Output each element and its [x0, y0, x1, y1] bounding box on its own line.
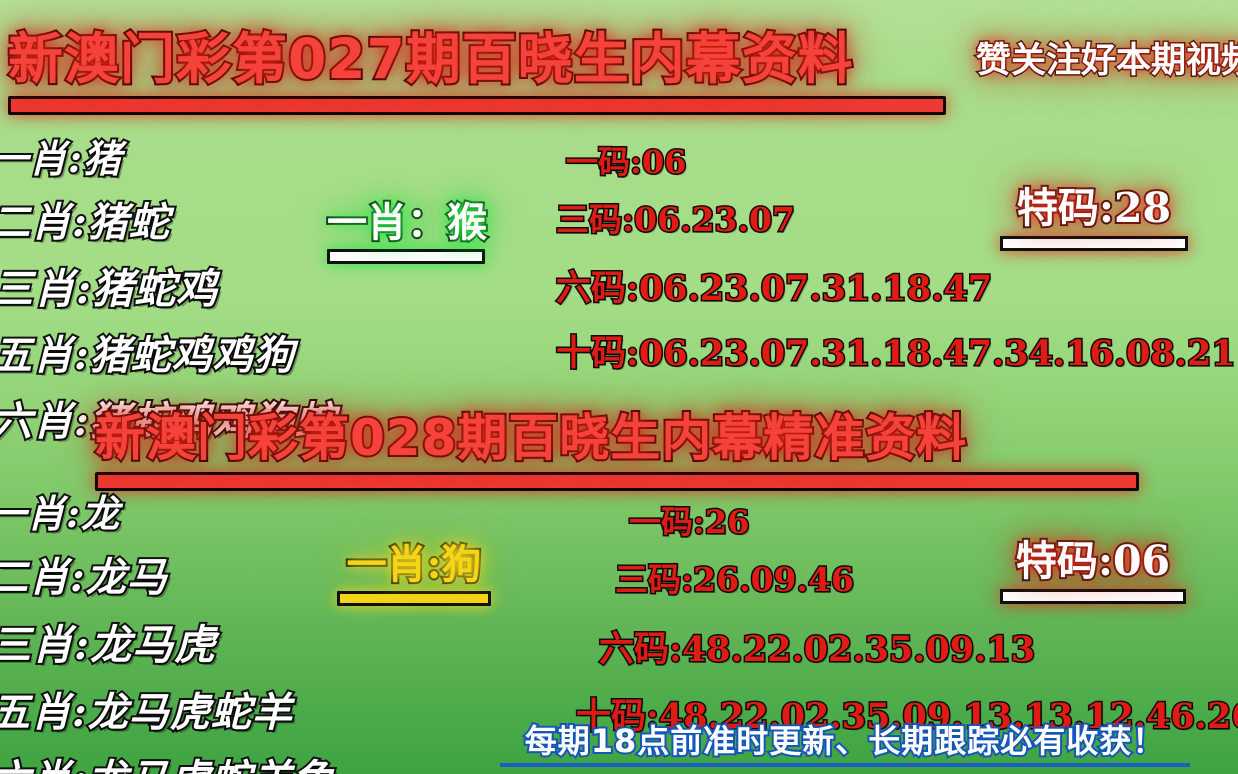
footer-banner: 每期18点前准时更新、长期跟踪必有收获！ — [500, 716, 1190, 767]
section-2-title-text: 新澳门彩第028期百晓生内幕精准资料 — [95, 398, 1139, 470]
section-1-special-code-text: 特码:28 — [1000, 174, 1188, 234]
section-2-title: 新澳门彩第028期百晓生内幕精准资料 — [95, 398, 1139, 491]
section-1-highlight-underline — [327, 249, 485, 264]
section-2-highlight-badge: 一肖:狗 — [337, 532, 491, 606]
footer-underline — [500, 763, 1190, 767]
number-row: 十码:06.23.07.31.18.47.34.16.08.21 — [556, 325, 1236, 376]
section-1-number-list: 一码:06 三码:06.23.07 六码:06.23.07.31.18.47 十… — [556, 137, 1236, 376]
number-row: 六码:06.23.07.31.18.47 — [556, 260, 1236, 311]
zodiac-row: 五肖:猪蛇鸡鸡狗 — [0, 323, 420, 381]
zodiac-row: 一肖:龙 — [0, 483, 418, 538]
section-2-zodiac-list: 一肖:龙 二肖:龙马 三肖:龙马虎 五肖:龙马虎蛇羊 六肖:龙马虎蛇羊兔 — [0, 483, 418, 774]
section-1-highlight-badge: 一肖：猴 — [327, 190, 487, 264]
zodiac-row: 一肖:猪 — [0, 128, 420, 183]
footer-text: 每期18点前准时更新、长期跟踪必有收获！ — [500, 716, 1190, 762]
promo-text: 赞关注好本期视频 — [976, 32, 1238, 83]
section-2-highlight-underline — [337, 591, 491, 606]
section-1-title: 新澳门彩第027期百晓生内幕资料 — [8, 14, 946, 115]
zodiac-row: 六肖:龙马虎蛇羊兔 — [0, 747, 418, 774]
zodiac-row: 五肖:龙马虎蛇羊 — [0, 680, 418, 738]
section-2-special-code: 特码:06 — [1000, 527, 1186, 604]
zodiac-row: 三肖:猪蛇鸡 — [0, 255, 420, 315]
section-2-special-code-text: 特码:06 — [1000, 527, 1186, 587]
section-1-title-text: 新澳门彩第027期百晓生内幕资料 — [8, 14, 946, 94]
zodiac-row: 三肖:龙马虎 — [0, 611, 418, 671]
section-2-highlight-text: 一肖:狗 — [337, 532, 491, 590]
lottery-poster: 新澳门彩第027期百晓生内幕资料 赞关注好本期视频 一肖:猪 二肖:猪蛇 三肖:… — [0, 0, 1238, 774]
section-2-special-code-underline — [1000, 589, 1186, 604]
section-1-title-underline — [8, 96, 946, 115]
number-row: 六码:48.22.02.35.09.13 — [599, 621, 1238, 672]
section-1-highlight-text: 一肖：猴 — [327, 190, 487, 248]
section-1-special-code: 特码:28 — [1000, 174, 1188, 251]
section-1-special-code-underline — [1000, 236, 1188, 251]
